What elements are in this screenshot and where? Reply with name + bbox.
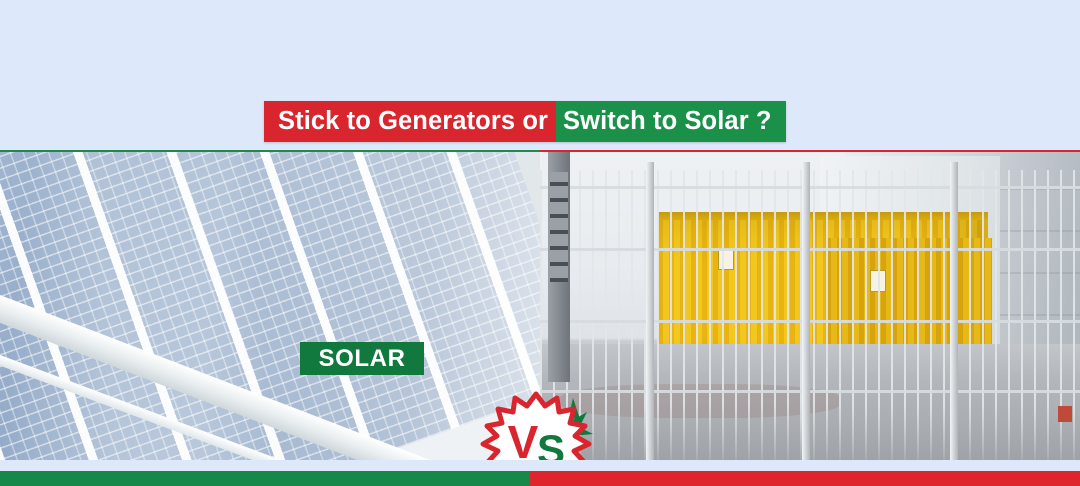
versus-badge: V S <box>477 392 595 460</box>
solar-label-chip: SOLAR <box>300 342 424 375</box>
fence-rail <box>540 320 1080 323</box>
headline-banner: Stick to Generators or Switch to Solar ? <box>264 101 786 142</box>
bottom-bar-green <box>0 471 530 486</box>
versus-letter-s: S <box>537 426 565 460</box>
fence-post <box>802 162 810 460</box>
generator-photo: GENERATOR <box>540 150 1080 460</box>
comparison-image-strip: SOLAR GENER <box>0 150 1080 460</box>
wall-fixture <box>1058 406 1072 422</box>
versus-letter-v: V <box>508 416 539 460</box>
headline-segment-generators: Stick to Generators or <box>264 101 556 142</box>
fence-post <box>646 162 654 460</box>
fence-post <box>950 162 958 460</box>
bottom-bar-red <box>530 471 1080 486</box>
fence-rail <box>540 248 1080 251</box>
headline-segment-solar: Switch to Solar ? <box>556 101 786 142</box>
fence-rail <box>540 186 1080 189</box>
fence-rail <box>540 390 1080 393</box>
poster-canvas: Stick to Generators or Switch to Solar ? <box>0 0 1080 486</box>
utility-pole <box>548 152 570 382</box>
wire-mesh-fence <box>540 170 1080 460</box>
solar-photo: SOLAR <box>0 150 540 460</box>
bottom-accent-bar <box>0 471 1080 486</box>
